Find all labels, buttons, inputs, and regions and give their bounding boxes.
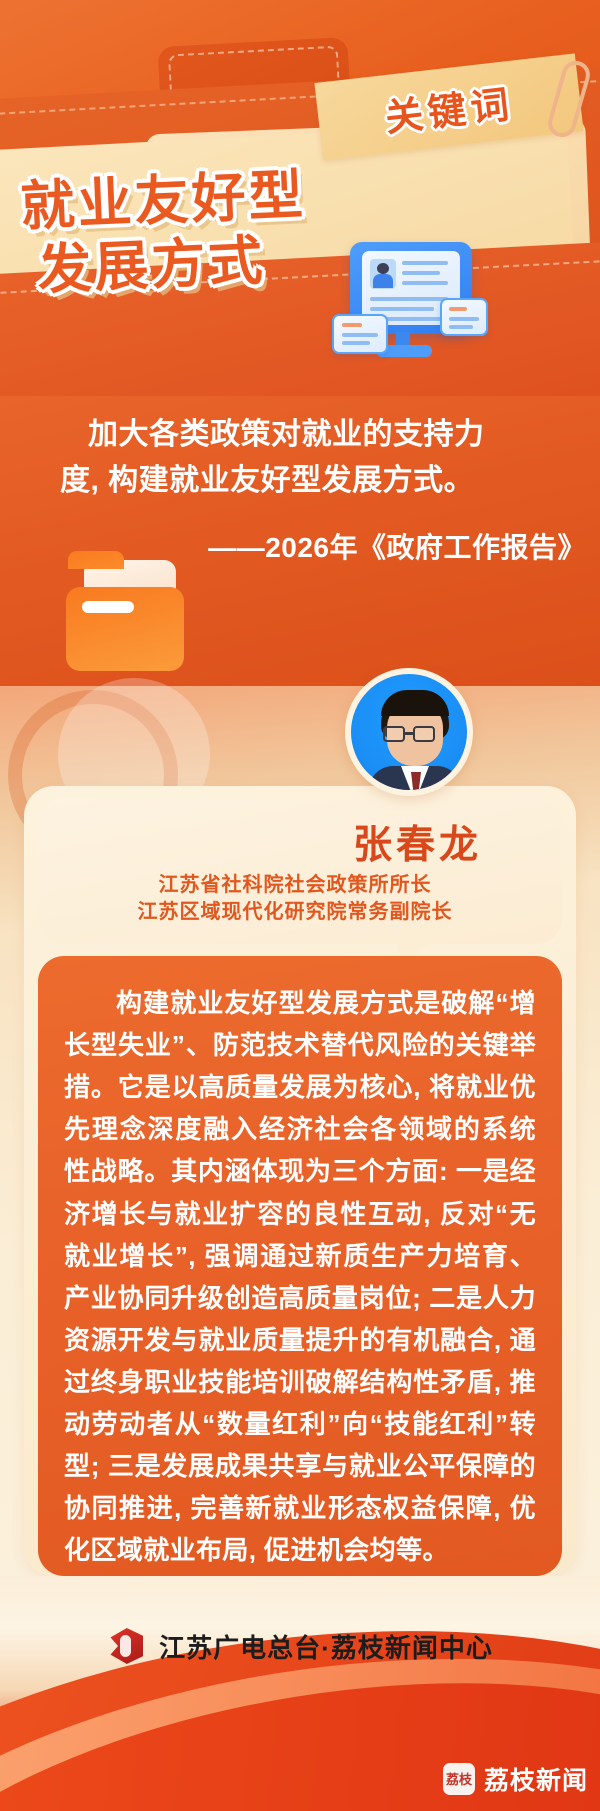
card-line (449, 317, 479, 321)
expert-title-line1: 江苏省社科院社会政策所所长 (38, 872, 552, 899)
header-illustration: 关键词 就业友好型 发展方式 (0, 0, 600, 420)
resume-line (370, 307, 434, 311)
avatar-hair-top (381, 690, 449, 716)
poster-root: 关键词 就业友好型 发展方式 (0, 0, 600, 1811)
card-line (342, 333, 378, 337)
expert-name: 张春龙 (38, 814, 482, 870)
card-line (342, 341, 370, 345)
keyword-label: 关键词 (382, 72, 516, 141)
card-line (449, 325, 473, 329)
avatar-glasses-left (383, 726, 405, 742)
footer-logo: 江苏广电总台·荔枝新闻中心 (0, 1626, 600, 1666)
footer-logo-text: 江苏广电总台·荔枝新闻中心 (159, 1628, 493, 1665)
jiangsu-broadcast-logo-icon (107, 1626, 147, 1666)
watermark: 荔枝 荔枝新闻 (443, 1761, 588, 1797)
resume-line (402, 281, 448, 285)
watermark-badge-icon: 荔枝 (443, 1763, 475, 1795)
info-card-right (440, 298, 488, 336)
folder-icon-slot (82, 601, 134, 613)
resume-line (402, 261, 448, 265)
avatar-tie (411, 772, 421, 796)
info-card-left (332, 314, 388, 354)
card-line (342, 323, 362, 327)
resume-screen-icon (332, 242, 482, 362)
folder-icon-tab (68, 551, 124, 569)
avatar-glasses-right (413, 726, 435, 742)
expert-name-bubble: 张春龙 江苏省社科院社会政策所所长 江苏区域现代化研究院常务副院长 (38, 798, 562, 944)
resume-line (402, 271, 440, 275)
watermark-text: 荔枝新闻 (484, 1761, 588, 1797)
avatar-glasses-bridge (405, 732, 413, 735)
avatar (345, 668, 473, 796)
resume-line (370, 297, 448, 301)
folder-icon-front (66, 587, 184, 671)
commentary-card: 构建就业友好型发展方式是破解“增长型失业”、防范技术替代风险的关键举措。它是以高… (38, 956, 562, 1576)
quote-line1: 加大各类政策对就业的支持力 (60, 412, 548, 458)
expert-title: 江苏省社科院社会政策所所长 江苏区域现代化研究院常务副院长 (38, 872, 552, 926)
footer: 江苏广电总台·荔枝新闻中心 荔枝 荔枝新闻 (0, 1576, 600, 1811)
quote-text: 加大各类政策对就业的支持力 度, 构建就业友好型发展方式。 (60, 412, 548, 503)
expert-title-line2: 江苏区域现代化研究院常务副院长 (38, 899, 552, 926)
resume-photo (370, 259, 396, 289)
commentary-text: 构建就业友好型发展方式是破解“增长型失业”、防范技术替代风险的关键举措。它是以高… (64, 982, 536, 1572)
folder-icon (66, 560, 190, 678)
quote-line2: 度, 构建就业友好型发展方式。 (60, 458, 548, 504)
card-line (449, 307, 467, 311)
